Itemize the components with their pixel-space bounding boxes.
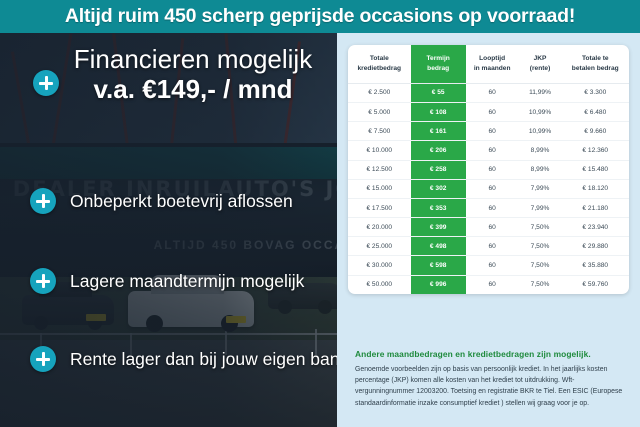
header-termijn-bedrag: Termijn bedrag	[411, 45, 466, 83]
table-row: € 12.500€ 258608,99%€ 15.480	[348, 160, 629, 179]
cell-looptijd: 60	[466, 179, 519, 198]
table-row: € 17.500€ 353607,99%€ 21.180	[348, 198, 629, 217]
advertisement-banner: Altijd ruim 450 scherp geprijsde occasio…	[0, 0, 640, 427]
cell-jkp: 7,50%	[519, 218, 562, 237]
cell-termijn-bedrag: € 55	[411, 83, 466, 102]
cell-termijn-bedrag: € 161	[411, 122, 466, 141]
header-line: bedrag	[413, 64, 464, 74]
cell-totale-kredietbedrag: € 2.500	[348, 83, 411, 102]
header-line: (rente)	[521, 64, 560, 74]
cell-termijn-bedrag: € 996	[411, 275, 466, 294]
cell-totale-te-betalen: € 35.880	[562, 256, 630, 275]
cell-totale-te-betalen: € 9.660	[562, 122, 630, 141]
cell-totale-te-betalen: € 12.360	[562, 141, 630, 160]
cell-totale-kredietbedrag: € 12.500	[348, 160, 411, 179]
plus-icon	[30, 268, 56, 294]
table-row: € 5.000€ 1086010,99%€ 6.480	[348, 102, 629, 121]
cell-jkp: 8,99%	[519, 160, 562, 179]
note-body: Genoemde voorbeelden zijn op basis van p…	[355, 364, 627, 409]
cell-totale-te-betalen: € 6.480	[562, 102, 630, 121]
feature-label: Onbeperkt boetevrij aflossen	[70, 191, 293, 212]
feature-label: Rente lager dan bij jouw eigen bank	[70, 349, 348, 370]
header-line: JKP	[521, 54, 560, 64]
cell-totale-kredietbedrag: € 7.500	[348, 122, 411, 141]
cell-looptijd: 60	[466, 198, 519, 217]
cell-jkp: 8,99%	[519, 141, 562, 160]
cell-jkp: 7,50%	[519, 256, 562, 275]
headline-block: Financieren mogelijk v.a. €149,- / mnd	[28, 45, 340, 105]
table-row: € 2.500€ 556011,99%€ 3.300	[348, 83, 629, 102]
header-looptijd: Looptijd in maanden	[466, 45, 519, 83]
cell-termijn-bedrag: € 353	[411, 198, 466, 217]
cell-totale-kredietbedrag: € 30.000	[348, 256, 411, 275]
feature-item-3: Rente lager dan bij jouw eigen bank	[30, 346, 340, 372]
cell-totale-te-betalen: € 23.940	[562, 218, 630, 237]
header-totale-kredietbedrag: Totale kredietbedrag	[348, 45, 411, 83]
cell-totale-kredietbedrag: € 50.000	[348, 275, 411, 294]
feature-item-2: Lagere maandtermijn mogelijk	[30, 268, 340, 294]
features-column: Financieren mogelijk v.a. €149,- / mnd O…	[0, 33, 345, 427]
cell-termijn-bedrag: € 598	[411, 256, 466, 275]
cell-jkp: 7,99%	[519, 198, 562, 217]
cell-termijn-bedrag: € 302	[411, 179, 466, 198]
cell-looptijd: 60	[466, 102, 519, 121]
cell-looptijd: 60	[466, 218, 519, 237]
table-row: € 7.500€ 1616010,99%€ 9.660	[348, 122, 629, 141]
rates-card: Totale kredietbedrag Termijn bedrag Loop…	[348, 45, 629, 294]
top-banner-text: Altijd ruim 450 scherp geprijsde occasio…	[65, 5, 575, 28]
headline-line-2: v.a. €149,- / mnd	[46, 75, 340, 105]
header-line: Termijn	[413, 54, 464, 64]
cell-totale-te-betalen: € 18.120	[562, 179, 630, 198]
cell-totale-kredietbedrag: € 17.500	[348, 198, 411, 217]
cell-jkp: 7,50%	[519, 275, 562, 294]
headline-line-1: Financieren mogelijk	[46, 45, 340, 73]
rates-panel: Totale kredietbedrag Termijn bedrag Loop…	[337, 33, 640, 427]
cell-jkp: 11,99%	[519, 83, 562, 102]
header-line: in maanden	[468, 64, 517, 74]
cell-looptijd: 60	[466, 83, 519, 102]
cell-totale-kredietbedrag: € 5.000	[348, 102, 411, 121]
cell-totale-kredietbedrag: € 15.000	[348, 179, 411, 198]
cell-jkp: 7,99%	[519, 179, 562, 198]
header-totale-te-betalen: Totale te betalen bedrag	[562, 45, 630, 83]
rates-header-row: Totale kredietbedrag Termijn bedrag Loop…	[348, 45, 629, 83]
cell-looptijd: 60	[466, 141, 519, 160]
cell-jkp: 10,99%	[519, 122, 562, 141]
rates-table-body: € 2.500€ 556011,99%€ 3.300€ 5.000€ 10860…	[348, 83, 629, 294]
table-row: € 25.000€ 498607,50%€ 29.880	[348, 237, 629, 256]
rates-table: Totale kredietbedrag Termijn bedrag Loop…	[348, 45, 629, 294]
cell-looptijd: 60	[466, 237, 519, 256]
cell-totale-te-betalen: € 21.180	[562, 198, 630, 217]
cell-totale-kredietbedrag: € 10.000	[348, 141, 411, 160]
cell-termijn-bedrag: € 108	[411, 102, 466, 121]
cell-totale-kredietbedrag: € 25.000	[348, 237, 411, 256]
plus-icon	[30, 346, 56, 372]
feature-item-1: Onbeperkt boetevrij aflossen	[30, 188, 340, 214]
cell-jkp: 10,99%	[519, 102, 562, 121]
cell-termijn-bedrag: € 258	[411, 160, 466, 179]
top-banner: Altijd ruim 450 scherp geprijsde occasio…	[0, 0, 640, 33]
cell-termijn-bedrag: € 399	[411, 218, 466, 237]
cell-termijn-bedrag: € 498	[411, 237, 466, 256]
header-line: Totale	[350, 54, 409, 64]
table-row: € 50.000€ 996607,50%€ 59.760	[348, 275, 629, 294]
table-row: € 10.000€ 206608,99%€ 12.360	[348, 141, 629, 160]
feature-label: Lagere maandtermijn mogelijk	[70, 271, 304, 292]
cell-looptijd: 60	[466, 122, 519, 141]
header-line: kredietbedrag	[350, 64, 409, 74]
cell-totale-te-betalen: € 15.480	[562, 160, 630, 179]
header-line: Totale te	[564, 54, 628, 64]
cell-totale-te-betalen: € 3.300	[562, 83, 630, 102]
cell-looptijd: 60	[466, 256, 519, 275]
header-line: betalen bedrag	[564, 64, 628, 74]
table-row: € 20.000€ 399607,50%€ 23.940	[348, 218, 629, 237]
cell-looptijd: 60	[466, 160, 519, 179]
cell-totale-te-betalen: € 29.880	[562, 237, 630, 256]
table-row: € 30.000€ 598607,50%€ 35.880	[348, 256, 629, 275]
table-row: € 15.000€ 302607,99%€ 18.120	[348, 179, 629, 198]
cell-looptijd: 60	[466, 275, 519, 294]
rates-table-head: Totale kredietbedrag Termijn bedrag Loop…	[348, 45, 629, 83]
cell-totale-te-betalen: € 59.760	[562, 275, 630, 294]
header-line: Looptijd	[468, 54, 517, 64]
cell-totale-kredietbedrag: € 20.000	[348, 218, 411, 237]
header-jkp: JKP (rente)	[519, 45, 562, 83]
note-title: Andere maandbedragen en kredietbedragen …	[355, 349, 625, 359]
cell-jkp: 7,50%	[519, 237, 562, 256]
cell-termijn-bedrag: € 206	[411, 141, 466, 160]
plus-icon	[30, 188, 56, 214]
